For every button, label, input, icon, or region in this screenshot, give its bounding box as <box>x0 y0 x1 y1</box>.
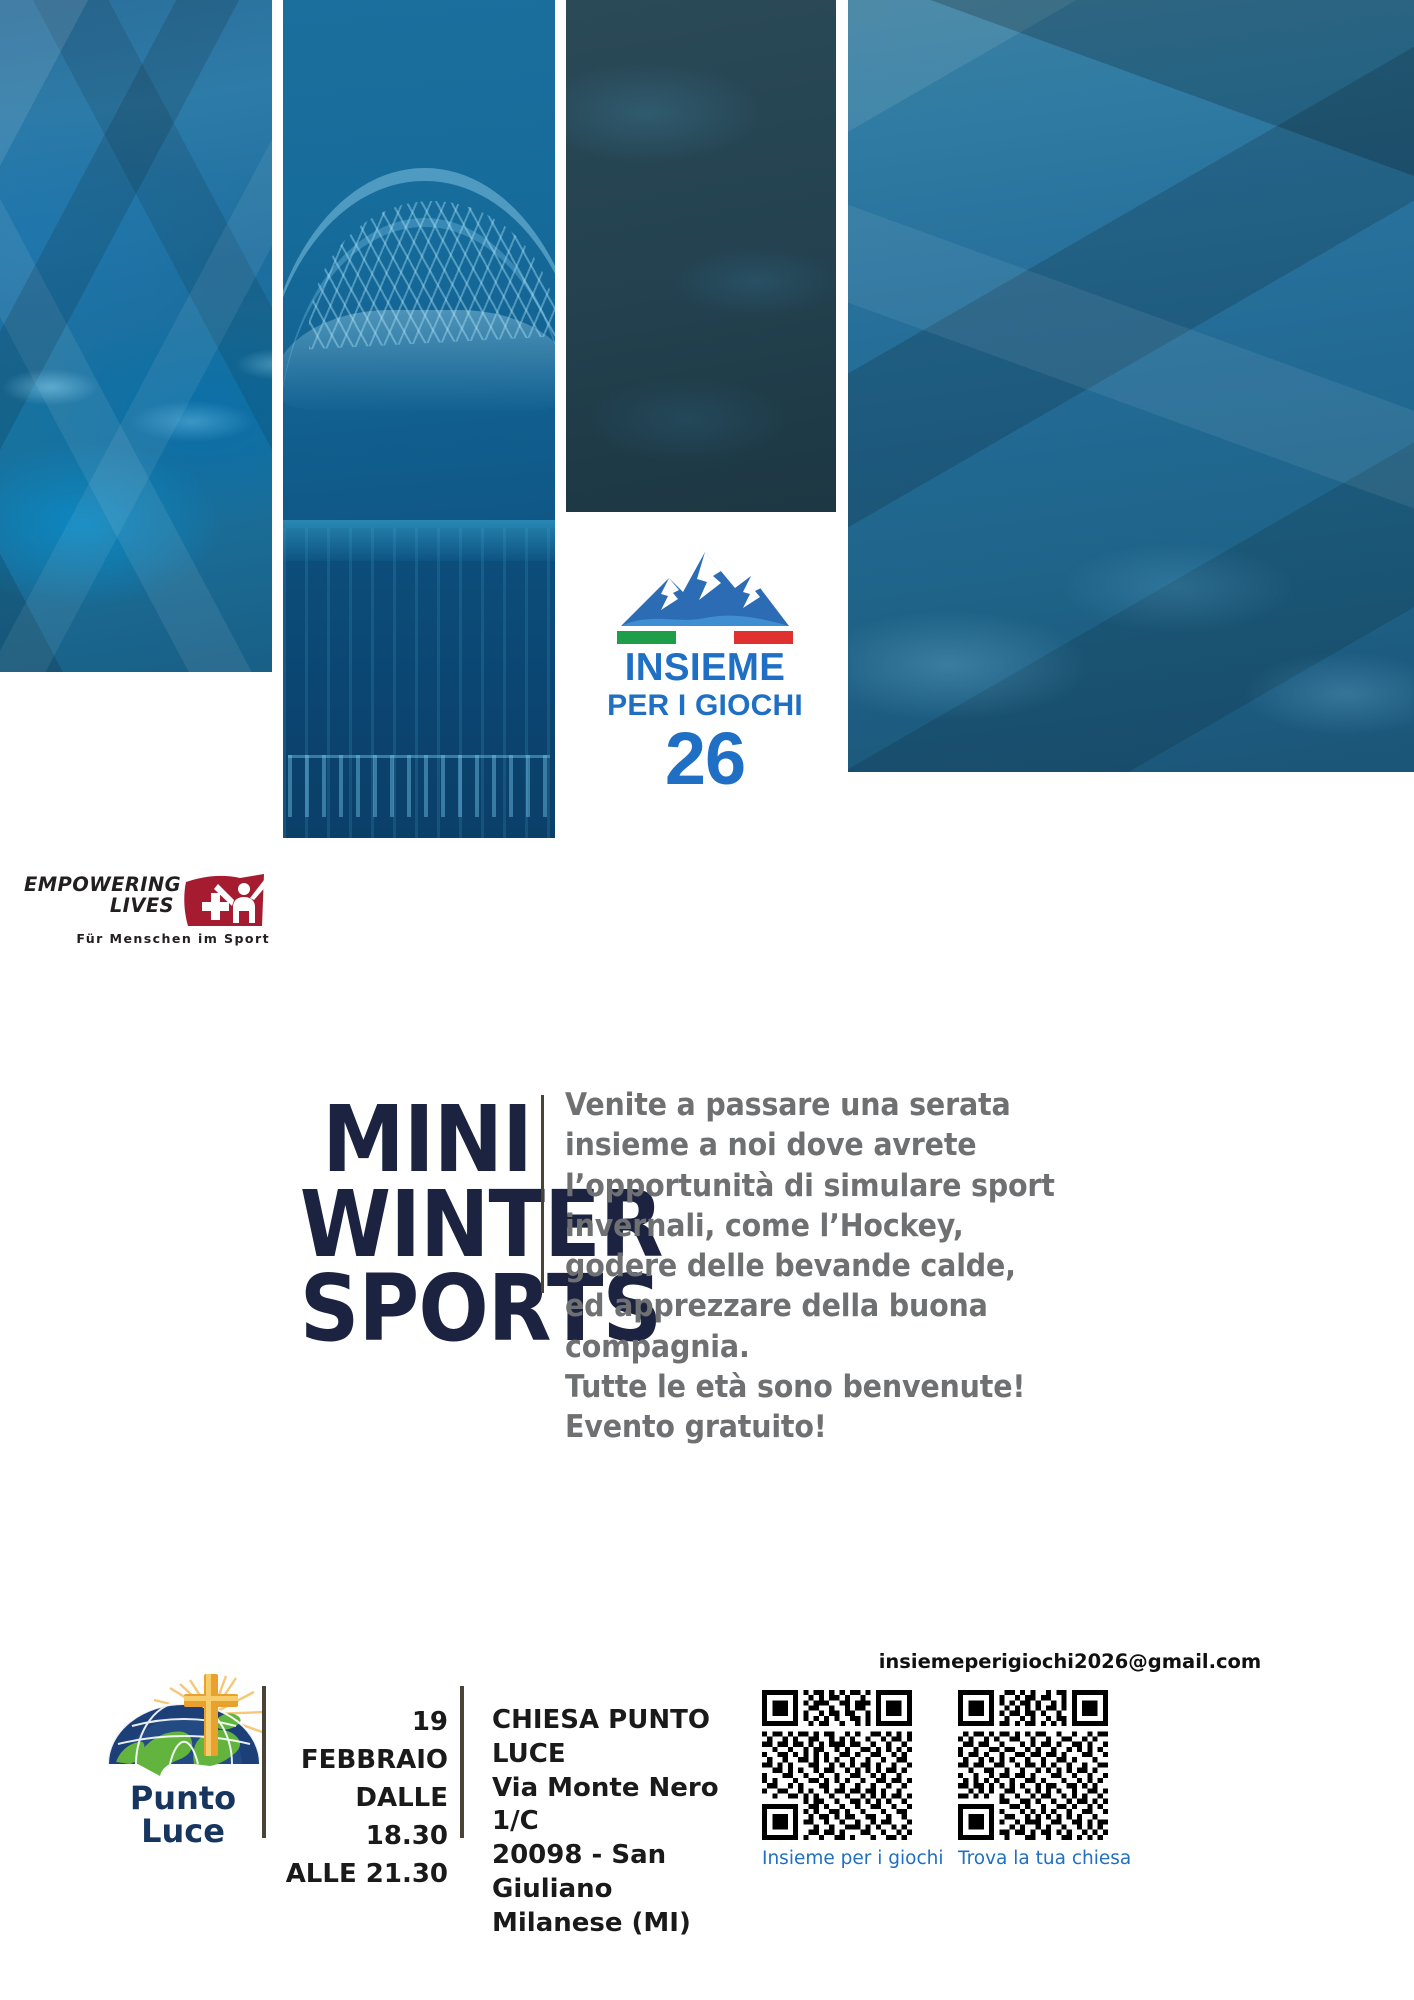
qr-caption-insieme: Insieme per i giochi <box>762 1848 912 1869</box>
event-start-time: DALLE 18.30 <box>272 1780 448 1856</box>
description-line-4: invernali, come l’Hockey, <box>565 1206 1007 1246</box>
punto-luce-line1: Punto <box>88 1782 278 1814</box>
rocky-mountain-photo <box>0 0 272 672</box>
mountain-icon <box>617 538 793 630</box>
event-description: Venite a passare una serata insieme a no… <box>565 1085 1045 1448</box>
event-datetime: 19 FEBBRAIO DALLE 18.30 ALLE 21.30 <box>272 1704 448 1894</box>
insieme-logo-line1: INSIEME <box>598 649 812 688</box>
description-line-9: Evento gratuito! <box>565 1407 1007 1447</box>
event-end-time: ALLE 21.30 <box>272 1856 448 1894</box>
qr-trova-la-tua-chiesa[interactable]: Trova la tua chiesa <box>958 1690 1108 1869</box>
swiss-cross-athlete-icon <box>178 872 268 928</box>
qr-insieme-per-i-giochi[interactable]: Insieme per i giochi <box>762 1690 912 1869</box>
globe-cross-icon <box>98 1666 268 1782</box>
venue-street: Via Monte Nero 1/C <box>492 1772 772 1840</box>
empowering-lives-word1: EMPOWERING <box>24 875 174 895</box>
mountain-range-photo <box>848 0 1414 772</box>
insieme-per-i-giochi-logo: INSIEME PER I GIOCHI 26 <box>598 538 812 796</box>
stadium-roof <box>283 310 555 411</box>
venue-name: CHIESA PUNTO LUCE <box>492 1704 772 1772</box>
flag-white <box>676 631 735 644</box>
venue-city-line2: Milanese (MI) <box>492 1907 772 1941</box>
empowering-lives-tagline: Für Menschen im Sport <box>24 931 270 946</box>
description-line-5: godere delle bevande calde, <box>565 1246 1007 1286</box>
stadium-band <box>283 520 555 562</box>
description-line-8: Tutte le età sono benvenute! <box>565 1367 1007 1407</box>
footer-divider-left <box>262 1686 266 1838</box>
punto-luce-line2: Luce <box>88 1815 278 1847</box>
description-line-2: insieme a noi dove avrete <box>565 1125 1007 1165</box>
title-divider <box>541 1095 544 1293</box>
stadium-railing <box>288 755 549 817</box>
event-date: 19 FEBBRAIO <box>272 1704 448 1780</box>
empowering-lives-logo: EMPOWERING LIVES Für Menschen im Sport <box>24 872 274 946</box>
footer-divider-right <box>460 1686 464 1838</box>
description-line-7: compagnia. <box>565 1327 1007 1367</box>
venue-address: CHIESA PUNTO LUCE Via Monte Nero 1/C 200… <box>492 1704 772 1941</box>
empowering-lives-word2: LIVES <box>24 895 174 917</box>
flag-green <box>617 631 676 644</box>
description-line-6: ed apprezzare della buona <box>565 1286 1007 1326</box>
dark-landscape-photo <box>566 0 836 512</box>
footer: Punto Luce 19 FEBBRAIO DALLE 18.30 ALLE … <box>0 1650 1414 2000</box>
insieme-logo-year: 26 <box>598 723 812 796</box>
qr-code-group: Insieme per i giochi <box>762 1690 1362 1869</box>
qr-code-icon[interactable] <box>762 1690 912 1840</box>
venue-city-line1: 20098 - San Giuliano <box>492 1839 772 1907</box>
contact-email[interactable]: insiemeperigiochi2026@gmail.com <box>770 1650 1370 1673</box>
flag-red <box>734 631 793 644</box>
description-line-3: l’opportunità di simulare sport <box>565 1166 1007 1206</box>
punto-luce-logo: Punto Luce <box>88 1666 278 1847</box>
qr-code-icon[interactable] <box>958 1690 1108 1840</box>
qr-caption-chiesa: Trova la tua chiesa <box>958 1848 1108 1869</box>
description-line-1: Venite a passare una serata <box>565 1085 1007 1125</box>
italian-flag-bar <box>617 631 793 644</box>
title-line-3: SPORTS <box>300 1267 532 1352</box>
stadium-photo <box>283 0 555 838</box>
page-title: MINI WINTER SPORTS <box>274 1098 532 1352</box>
